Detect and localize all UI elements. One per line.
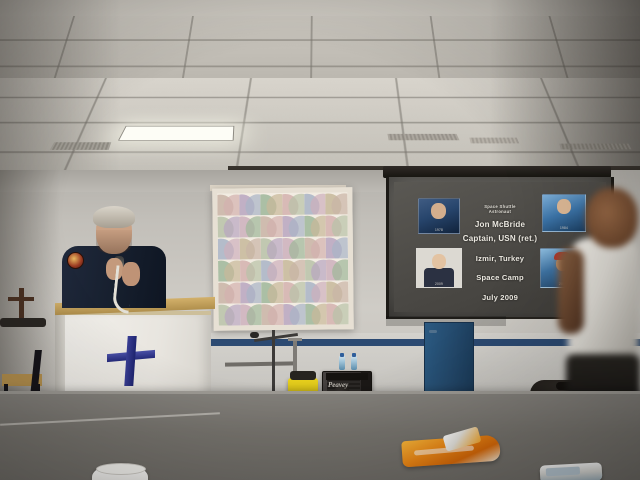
wooden-cross-icon <box>8 288 34 322</box>
quilt-petal <box>327 281 343 302</box>
quilt-petal <box>261 194 277 215</box>
quilt-petal <box>261 238 277 259</box>
wall-shelf <box>0 318 46 327</box>
hanging-quilt <box>212 187 353 330</box>
quilt-cell <box>283 215 305 237</box>
quilt-petal <box>239 238 255 259</box>
walker-head <box>586 188 638 248</box>
quilt-petal <box>327 303 343 324</box>
quilt-petal <box>239 194 255 215</box>
air-vent <box>469 138 519 144</box>
quilt-petal <box>218 304 234 325</box>
fluorescent-light-panel <box>118 126 234 141</box>
quilt-petal <box>240 282 256 303</box>
quilt-petal <box>333 303 349 324</box>
quilt-petal <box>283 238 299 259</box>
door-handle-icon[interactable] <box>429 330 437 333</box>
quilt-cell <box>217 193 239 215</box>
quilt-petal <box>305 281 321 302</box>
quilt-pattern <box>217 192 348 325</box>
quilt-cell <box>283 237 305 259</box>
quilt-cell <box>218 237 240 259</box>
quilt-cell <box>261 237 283 259</box>
slide-name-line1: Jon McBride <box>452 220 548 230</box>
quilt-petal <box>261 260 277 281</box>
quilt-petal <box>326 259 342 280</box>
air-vent <box>387 134 459 140</box>
quilt-cell <box>326 258 348 280</box>
photo-scene: 1978 1984 2009 2009 Space Shuttle Astron… <box>0 0 640 480</box>
quilt-cell <box>240 281 262 303</box>
speaker-person <box>62 206 166 306</box>
quilt-petal <box>326 193 342 214</box>
quilt-petal <box>261 216 277 237</box>
quilt-cell <box>261 215 283 237</box>
ceiling-shadow-left <box>0 0 120 178</box>
quilt-cell <box>218 281 240 303</box>
table-edge-highlight <box>0 391 640 394</box>
slide-text-block: Space Shuttle Astronaut Jon McBride Capt… <box>452 204 548 302</box>
quilt-petal <box>240 260 256 281</box>
quilt-cell <box>261 259 283 281</box>
quilt-cell <box>304 237 326 259</box>
quilt-petal <box>218 238 234 259</box>
quilt-cell <box>261 193 283 215</box>
quilt-cell <box>326 192 348 214</box>
quilt-cell <box>327 280 349 302</box>
shoulder-patch-icon <box>67 252 84 269</box>
quilt-cell <box>304 215 326 237</box>
quilt-petal <box>239 216 255 237</box>
quilt-cell <box>240 259 262 281</box>
walking-person <box>560 182 640 422</box>
quilt-petal <box>283 216 299 237</box>
quilt-petal <box>282 194 298 215</box>
slide-place-line1: Izmir, Turkey <box>452 254 548 263</box>
quilt-cell <box>239 215 261 237</box>
quilt-petal <box>283 282 299 303</box>
quilt-cell <box>282 193 304 215</box>
blue-cross-emblem-icon <box>107 336 155 386</box>
quilt-cell <box>218 259 240 281</box>
quilt-petal <box>218 216 234 237</box>
drop-ceiling <box>0 0 640 178</box>
quilt-petal <box>332 193 348 214</box>
flip-phone[interactable] <box>540 462 603 480</box>
quilt-petal <box>267 194 283 215</box>
water-bottle <box>351 356 357 370</box>
quilt-cell <box>326 214 348 236</box>
quilt-petal <box>267 216 283 237</box>
quilt-petal <box>218 282 234 303</box>
walker-arm <box>558 248 584 334</box>
quilt-cell <box>304 193 326 215</box>
quilt-cell <box>262 281 284 303</box>
quilt-petal <box>304 237 320 258</box>
phone-screen <box>546 467 580 477</box>
quilt-petal <box>267 238 283 259</box>
snack-bag <box>402 430 500 464</box>
slide-place-line3: July 2009 <box>452 293 548 302</box>
quilt-petal <box>283 260 299 281</box>
slide-place-line2: Space Camp <box>452 273 548 282</box>
quilt-cell <box>327 302 349 324</box>
amp-brand-label: Peavey <box>328 381 344 389</box>
water-bottle <box>339 356 345 370</box>
quilt-cell <box>283 259 305 281</box>
quilt-petal <box>218 260 234 281</box>
air-vent <box>50 142 111 150</box>
air-vent <box>559 144 631 150</box>
quilt-cell <box>218 215 240 237</box>
quilt-cell <box>239 193 261 215</box>
quilt-petal <box>326 237 342 258</box>
quilt-petal <box>333 281 349 302</box>
quilt-cell <box>218 303 240 325</box>
quilt-cell <box>305 281 327 303</box>
quilt-cell <box>326 236 348 258</box>
quilt-petal <box>332 259 348 280</box>
speaker-hair <box>93 206 135 228</box>
quilt-petal <box>304 215 320 236</box>
slide-name-line2: Captain, USN (ret.) <box>452 234 548 244</box>
quilt-petal <box>332 215 348 236</box>
speaker-face-shadow <box>96 230 132 254</box>
microphone-stand-secondary-boom <box>288 338 302 341</box>
quilt-cell <box>239 237 261 259</box>
ceiling-shadow-right <box>490 0 640 178</box>
quilt-cell <box>283 281 305 303</box>
quilt-petal <box>326 215 342 236</box>
white-cup-rim <box>96 463 146 475</box>
quilt-petal <box>262 282 278 303</box>
slide-subtitle-line2: Astronaut <box>452 209 548 214</box>
quilt-cell <box>305 259 327 281</box>
quilt-petal <box>268 282 284 303</box>
quilt-cell <box>305 303 327 325</box>
quilt-petal <box>305 303 321 324</box>
quilt-petal <box>267 260 283 281</box>
quilt-petal <box>304 193 320 214</box>
quilt-petal <box>332 237 348 258</box>
quilt-petal <box>217 194 233 215</box>
quilt-petal <box>305 259 321 280</box>
